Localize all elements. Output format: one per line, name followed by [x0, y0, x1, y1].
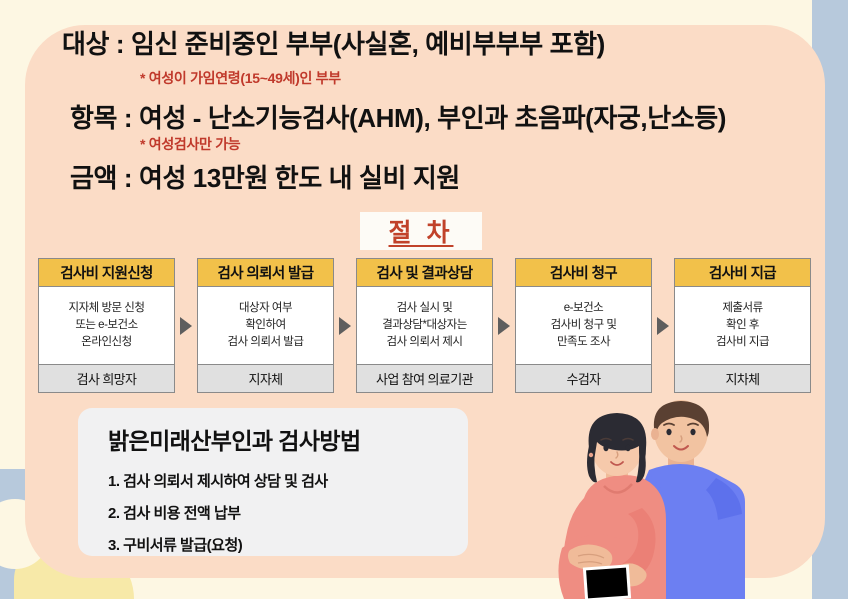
- flow-step-3-footer: 사업 참여 의료기관: [357, 364, 492, 392]
- flow-step-4-body-line-1: e-보건소: [564, 300, 603, 317]
- header-line-items: 항목 : 여성 - 난소기능검사(AHM), 부인과 초음파(자궁,난소등): [70, 98, 726, 135]
- woman-figure: [558, 413, 666, 599]
- flow-step-4-footer: 수검자: [516, 364, 651, 392]
- flow-step-3-body: 검사 실시 및 결과상담*대상자는 검사 의뢰서 제시: [357, 287, 492, 364]
- clinic-method-item-3: 3. 구비서류 발급(요청): [108, 534, 468, 555]
- flow-step-2-body: 대상자 여부 확인하여 검사 의뢰서 발급: [198, 287, 333, 364]
- flow-step-1-body-line-3: 온라인신청: [81, 334, 131, 351]
- flow-step-4-body-line-3: 만족도 조사: [557, 334, 610, 351]
- flow-step-3[interactable]: 검사 및 결과상담 검사 실시 및 결과상담*대상자는 검사 의뢰서 제시 사업…: [356, 258, 493, 393]
- flow-step-2-body-line-1: 대상자 여부: [239, 300, 292, 317]
- flow-step-5-header: 검사비 지급: [675, 259, 810, 287]
- flow-step-5[interactable]: 검사비 지급 제출서류 확인 후 검사비 지급 지차체: [674, 258, 811, 393]
- procedure-title-text: 절 차: [389, 213, 454, 249]
- flow-step-5-footer: 지차체: [675, 364, 810, 392]
- ultrasound-photo: [583, 564, 631, 599]
- procedure-title-box: 절 차: [360, 212, 482, 250]
- clinic-method-item-2: 2. 검사 비용 전액 납부: [108, 502, 468, 523]
- flow-step-2-footer: 지자체: [198, 364, 333, 392]
- flow-step-3-body-line-3: 검사 의뢰서 제시: [387, 334, 463, 351]
- header-line-amount: 금액 : 여성 13만원 한도 내 실비 지원: [70, 158, 460, 195]
- flow-step-1-footer: 검사 희망자: [39, 364, 174, 392]
- flow-arrow-2-icon: [334, 258, 356, 393]
- header-note-female-only: * 여성검사만 가능: [140, 134, 240, 154]
- flow-step-2-body-line-2: 확인하여: [245, 317, 285, 334]
- infographic-canvas: 대상 : 임신 준비중인 부부(사실혼, 예비부부부 포함) * 여성이 가임연…: [0, 0, 848, 599]
- flow-step-4[interactable]: 검사비 청구 e-보건소 검사비 청구 및 만족도 조사 수검자: [515, 258, 652, 393]
- flow-arrow-1-icon: [175, 258, 197, 393]
- header-line-target: 대상 : 임신 준비중인 부부(사실혼, 예비부부부 포함): [62, 24, 605, 61]
- flow-step-4-header: 검사비 청구: [516, 259, 651, 287]
- clinic-method-card: 밝은미래산부인과 검사방법 1. 검사 의뢰서 제시하여 상담 및 검사 2. …: [78, 408, 468, 556]
- flow-step-4-body-line-2: 검사비 청구 및: [551, 317, 617, 334]
- flow-step-4-body: e-보건소 검사비 청구 및 만족도 조사: [516, 287, 651, 364]
- flow-step-1-body: 지자체 방문 신청 또는 e-보건소 온라인신청: [39, 287, 174, 364]
- flow-arrow-3-icon: [493, 258, 515, 393]
- clinic-method-title: 밝은미래산부인과 검사방법: [108, 422, 468, 456]
- flow-step-2[interactable]: 검사 의뢰서 발급 대상자 여부 확인하여 검사 의뢰서 발급 지자체: [197, 258, 334, 393]
- flow-step-1-body-line-1: 지자체 방문 신청: [69, 300, 145, 317]
- flow-arrow-4-icon: [652, 258, 674, 393]
- procedure-flow: 검사비 지원신청 지자체 방문 신청 또는 e-보건소 온라인신청 검사 희망자…: [38, 258, 813, 393]
- flow-step-1-body-line-2: 또는 e-보건소: [75, 317, 137, 334]
- flow-step-5-body-line-2: 확인 후: [726, 317, 759, 334]
- clinic-method-item-1: 1. 검사 의뢰서 제시하여 상담 및 검사: [108, 470, 468, 491]
- flow-step-5-body-line-1: 제출서류: [722, 300, 762, 317]
- flow-step-2-body-line-3: 검사 의뢰서 발급: [228, 334, 304, 351]
- flow-step-1-header: 검사비 지원신청: [39, 259, 174, 287]
- flow-step-3-body-line-2: 결과상담*대상자는: [382, 317, 467, 334]
- flow-step-5-body-line-3: 검사비 지급: [716, 334, 769, 351]
- flow-step-1[interactable]: 검사비 지원신청 지자체 방문 신청 또는 e-보건소 온라인신청 검사 희망자: [38, 258, 175, 393]
- flow-step-3-header: 검사 및 결과상담: [357, 259, 492, 287]
- header-note-age: * 여성이 가임연령(15~49세)인 부부: [140, 68, 341, 88]
- flow-step-3-body-line-1: 검사 실시 및: [397, 300, 453, 317]
- pregnant-couple-illustration: [556, 398, 796, 599]
- flow-step-5-body: 제출서류 확인 후 검사비 지급: [675, 287, 810, 364]
- flow-step-2-header: 검사 의뢰서 발급: [198, 259, 333, 287]
